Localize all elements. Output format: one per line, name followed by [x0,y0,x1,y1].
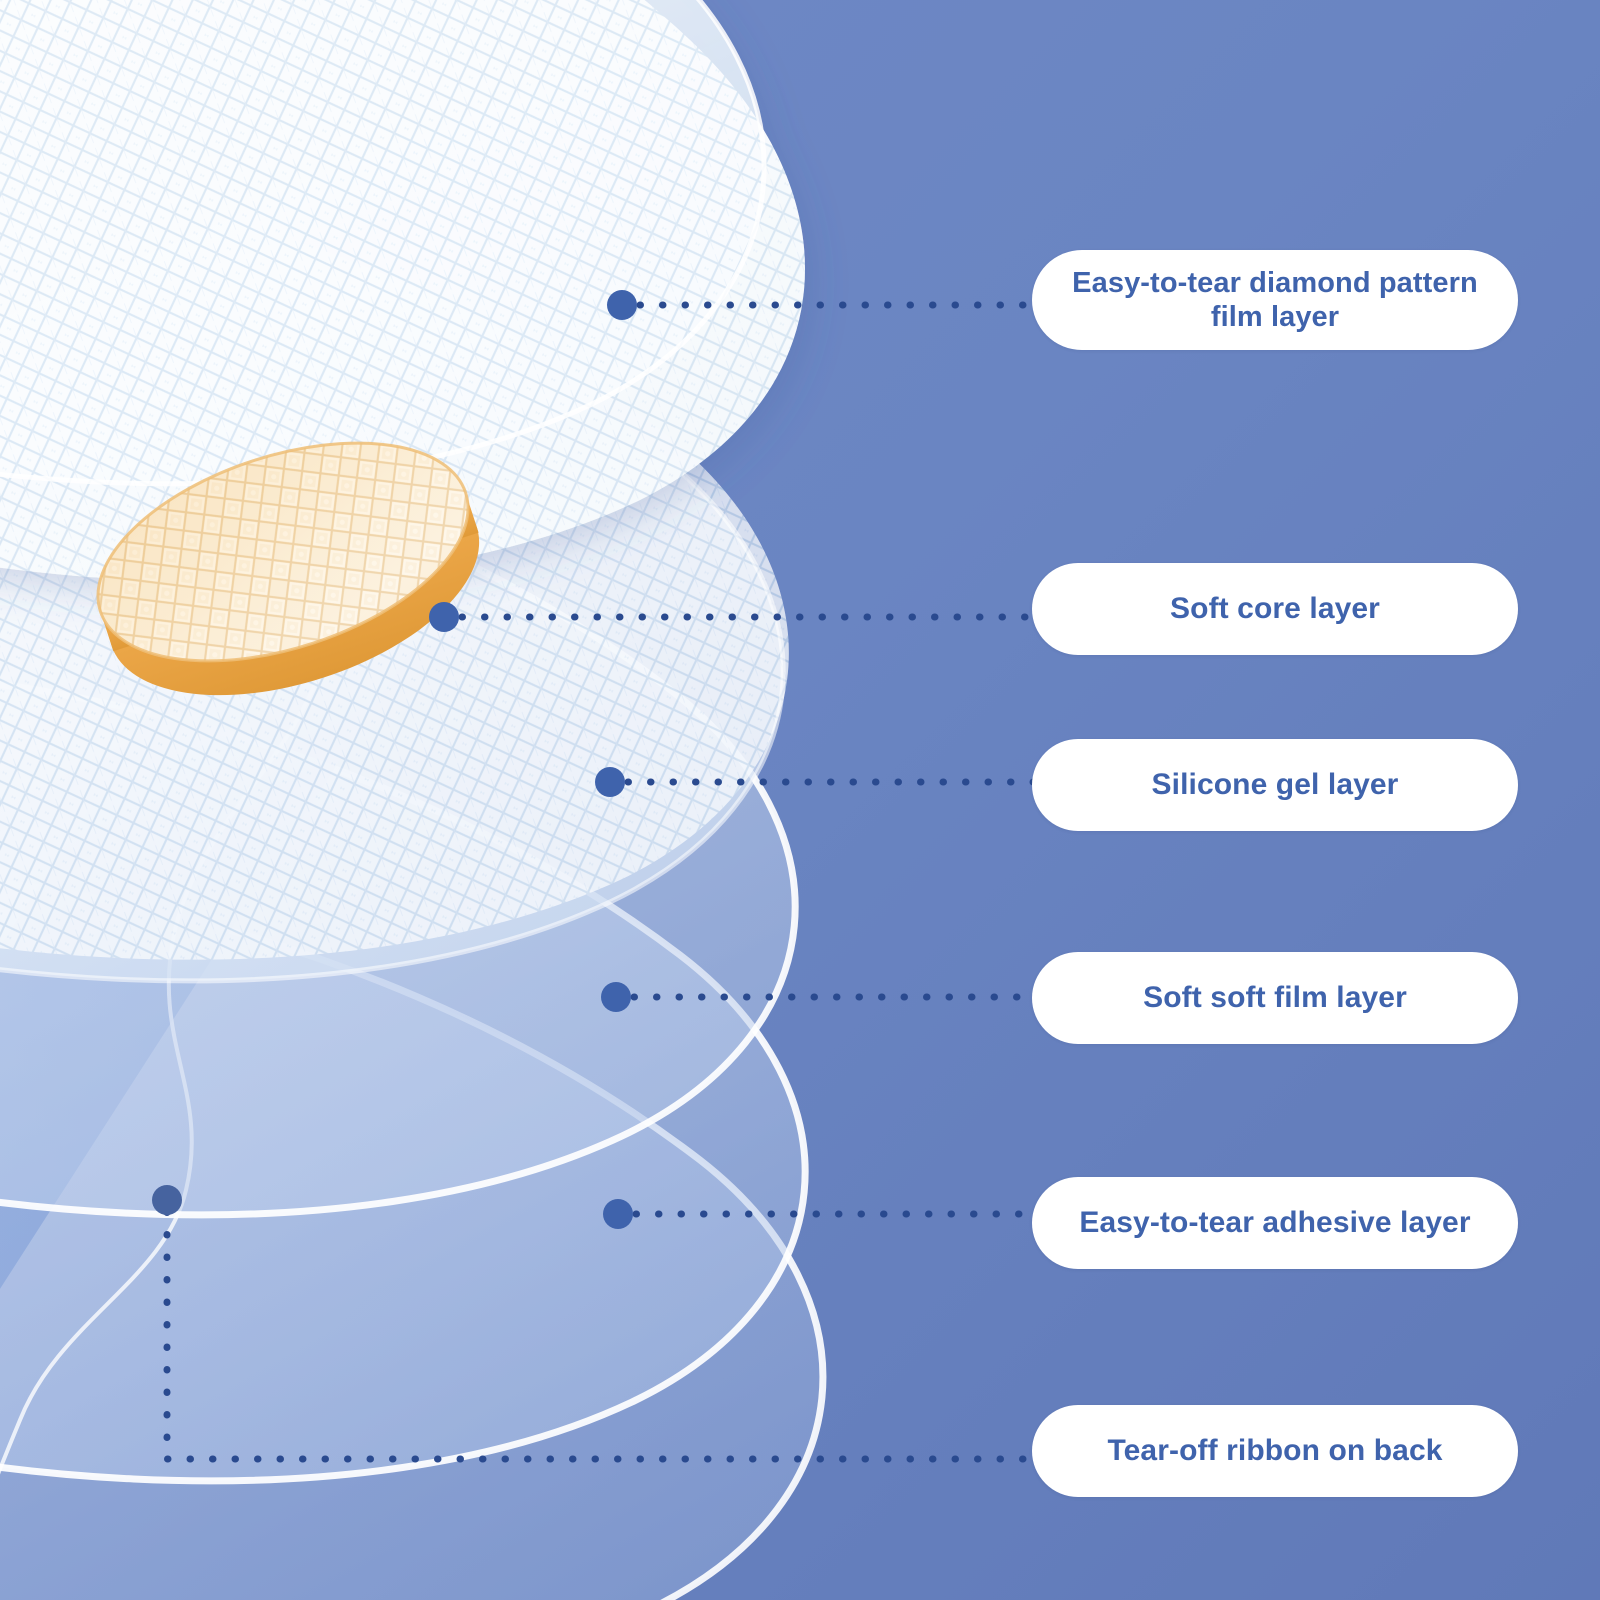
marker-dot-adhesive [603,1199,633,1229]
callout-label-soft-core: Soft core layer [1170,591,1380,626]
callout-pill-adhesive[interactable]: Easy-to-tear adhesive layer [1032,1177,1518,1269]
callout-pill-soft-core[interactable]: Soft core layer [1032,563,1518,655]
marker-dot-tear-ribbon [152,1185,182,1215]
infographic-canvas: Easy-to-tear diamond pattern film layer … [0,0,1600,1600]
marker-dot-soft-film [601,982,631,1012]
callout-pill-tear-ribbon[interactable]: Tear-off ribbon on back [1032,1405,1518,1497]
callout-pill-soft-film[interactable]: Soft soft film layer [1032,952,1518,1044]
callout-pill-diamond-film[interactable]: Easy-to-tear diamond pattern film layer [1032,250,1518,350]
callout-label-tear-ribbon: Tear-off ribbon on back [1107,1433,1442,1468]
callout-label-diamond-film-line1: Easy-to-tear diamond pattern [1072,266,1478,300]
callout-label-adhesive: Easy-to-tear adhesive layer [1079,1205,1470,1240]
callout-pill-silicone-gel[interactable]: Silicone gel layer [1032,739,1518,831]
marker-dot-silicone-gel [595,767,625,797]
callout-label-diamond-film-line2: film layer [1211,300,1339,334]
marker-dot-soft-core [429,602,459,632]
marker-dot-diamond-film [607,290,637,320]
callout-label-silicone-gel: Silicone gel layer [1152,767,1399,802]
callout-label-soft-film: Soft soft film layer [1143,980,1407,1015]
